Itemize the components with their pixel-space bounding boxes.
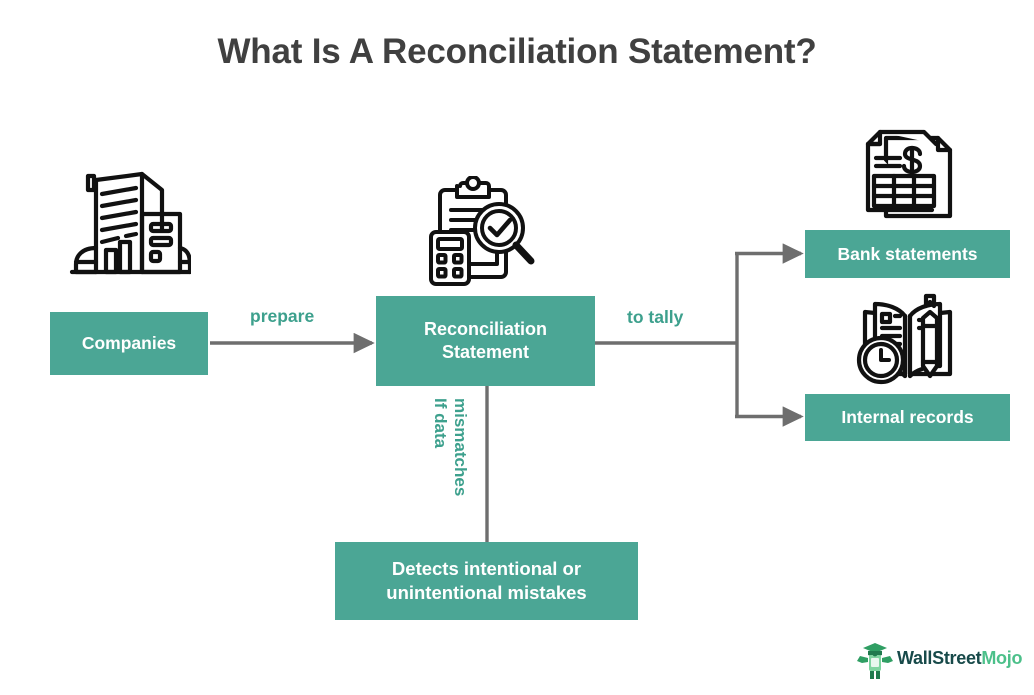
node-internal-records[interactable]: Internal records (805, 394, 1010, 441)
edge-label-if-data-mismatches: mismatches If data (430, 398, 470, 538)
node-bank-statements-label: Bank statements (837, 243, 977, 265)
wallstreetmojo-mascot-icon (855, 642, 895, 680)
diagram-canvas: What Is A Reconciliation Statement? (0, 0, 1034, 695)
edge-label-if-data-line1: mismatches (451, 398, 470, 496)
node-detects-label: Detects intentional or unintentional mis… (386, 557, 586, 604)
edge-label-prepare: prepare (250, 306, 314, 327)
node-detects-mistakes[interactable]: Detects intentional or unintentional mis… (335, 542, 638, 620)
wallstreetmojo-wordmark: WallStreetMojo (897, 648, 1022, 669)
node-reconciliation-line2: Statement (442, 342, 529, 362)
edge-label-to-tally: to tally (627, 307, 683, 328)
node-companies[interactable]: Companies (50, 312, 208, 375)
node-reconciliation-line1: Reconciliation (424, 319, 547, 339)
node-reconciliation-label: Reconciliation Statement (424, 318, 547, 364)
logo-text-mojo: Mojo (981, 648, 1022, 668)
bank-document-stack-icon (862, 124, 957, 224)
node-companies-label: Companies (82, 332, 176, 354)
node-reconciliation-statement[interactable]: Reconciliation Statement (376, 296, 595, 386)
edge-label-if-data-line2: If data (431, 398, 450, 448)
node-detects-line1: Detects intentional or (392, 558, 581, 579)
ledger-book-clock-pencil-icon (855, 292, 960, 387)
wallstreetmojo-logo: WallStreetMojo (855, 640, 1025, 682)
clipboard-calculator-magnifier-icon (427, 176, 542, 288)
node-internal-records-label: Internal records (841, 406, 973, 428)
office-building-icon (66, 170, 191, 282)
node-detects-line2: unintentional mistakes (386, 582, 586, 603)
node-bank-statements[interactable]: Bank statements (805, 230, 1010, 278)
logo-text-wallstreet: WallStreet (897, 648, 981, 668)
